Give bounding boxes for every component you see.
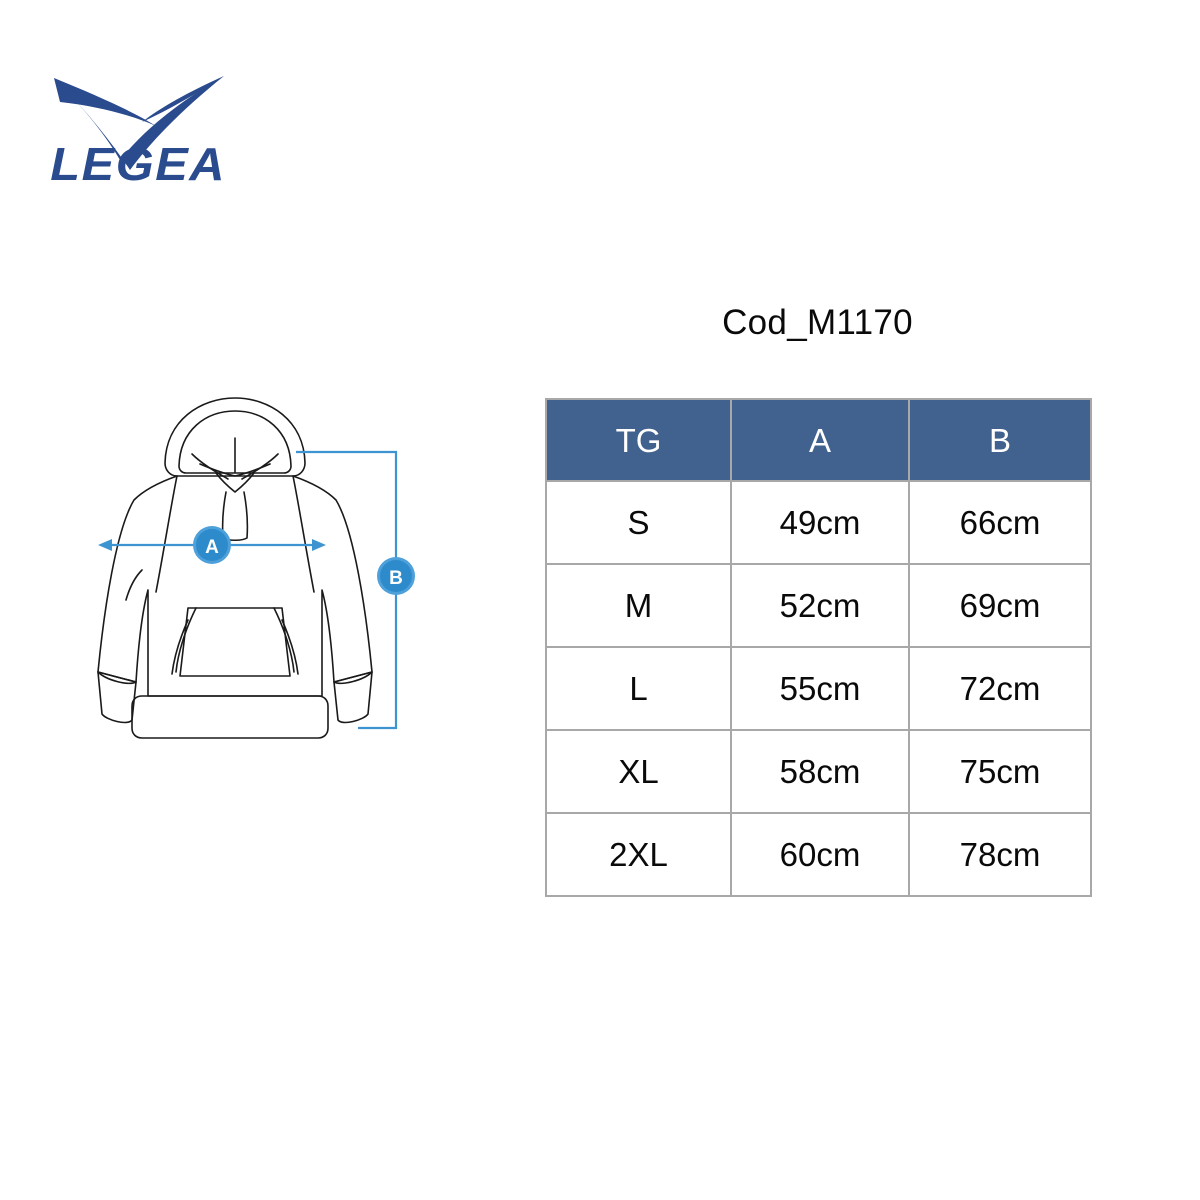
cell-measure-b: 66cm [909,481,1091,564]
hoodie-illustration: A B [80,380,430,750]
hoodie-outline [98,398,372,738]
brand-logo: LEGEA [38,62,238,187]
table-row: L 55cm 72cm [546,647,1091,730]
cell-size: L [546,647,731,730]
cell-measure-b: 78cm [909,813,1091,896]
cell-size: M [546,564,731,647]
cell-measure-b: 72cm [909,647,1091,730]
column-header-a: A [731,399,909,481]
cell-measure-a: 58cm [731,730,909,813]
table-header-row: TG A B [546,399,1091,481]
measure-badge-a-label: A [205,537,219,558]
table-row: S 49cm 66cm [546,481,1091,564]
size-table: TG A B S 49cm 66cm M 52cm 69cm L 55cm 72… [545,398,1092,897]
cell-measure-b: 69cm [909,564,1091,647]
table-row: M 52cm 69cm [546,564,1091,647]
cell-measure-b: 75cm [909,730,1091,813]
cell-measure-a: 55cm [731,647,909,730]
table-row: XL 58cm 75cm [546,730,1091,813]
cell-size: 2XL [546,813,731,896]
cell-size: XL [546,730,731,813]
column-header-b: B [909,399,1091,481]
brand-wordmark: LEGEA [50,139,226,187]
size-chart-panel: Cod_M1170 TG A B S 49cm 66cm M 52cm 69cm [545,305,1090,897]
measure-a-indicator: A [98,526,326,564]
column-header-tg: TG [546,399,731,481]
measure-badge-b-label: B [389,568,403,589]
table-row: 2XL 60cm 78cm [546,813,1091,896]
cell-measure-a: 60cm [731,813,909,896]
cell-measure-a: 49cm [731,481,909,564]
cell-measure-a: 52cm [731,564,909,647]
product-code-title: Cod_M1170 [545,305,1090,398]
cell-size: S [546,481,731,564]
